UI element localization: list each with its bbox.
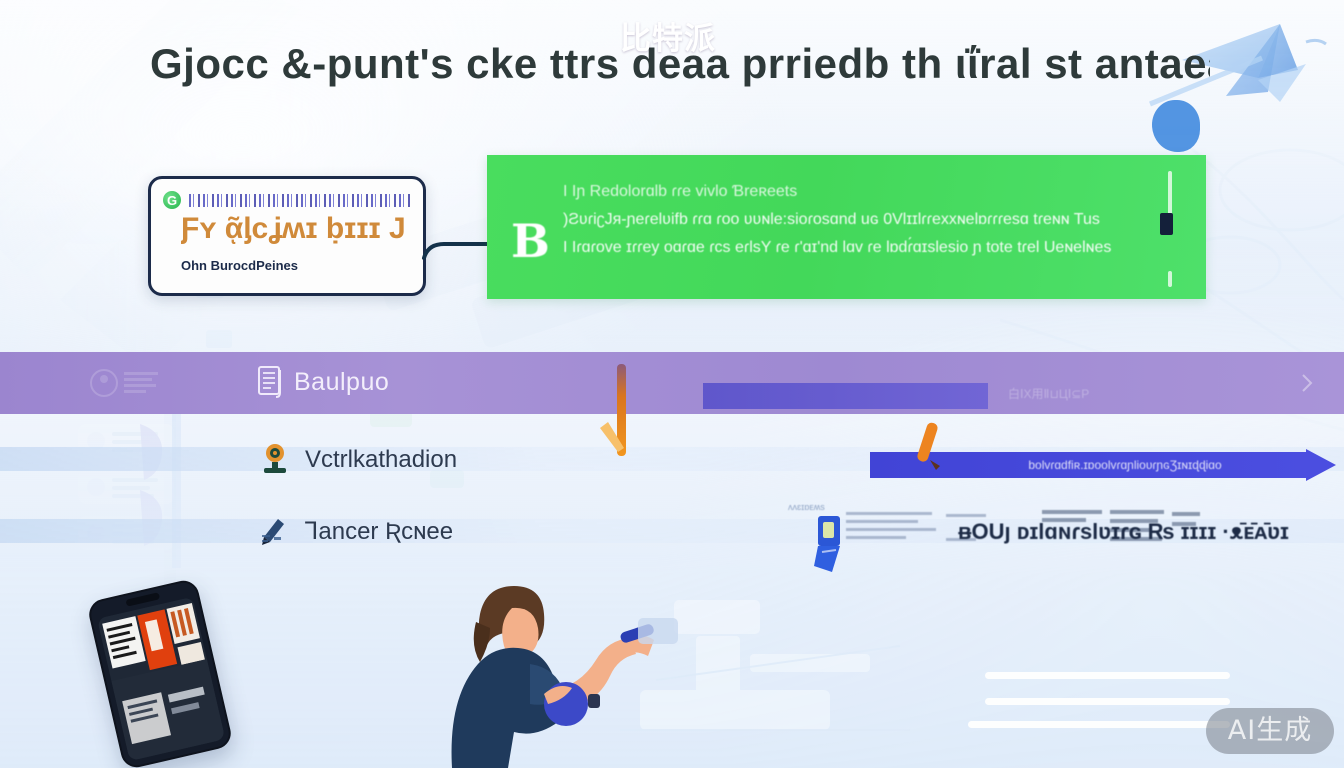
orange-pen-marker-icon [908,420,946,472]
ghost-avatar-icon [88,364,168,402]
document-list-icon [258,366,284,398]
purple-header-bar: Baulpuo [0,352,1344,414]
stamp-seal-icon [258,441,292,477]
watermark-label: AI生成 [1228,716,1312,746]
green-panel-line-1: I Iɲ Redolorɑlb ɾɾe vivlo Ɓreʀeets [563,179,1136,205]
lower-mini-label: ᴧᴧɛɪɒᴇʍs [788,502,825,512]
panel-tick-top [1168,171,1172,215]
purple-bar-progress [703,383,988,409]
green-notice-panel[interactable]: B I Iɲ Redolorɑlb ɾɾe vivlo Ɓreʀeets )Ƨʋ… [487,155,1206,299]
purple-bar-ghost-text: 白ⅠΧ用Ⅱ⊔ЦⅠ⊆P [1008,385,1158,401]
letter-b-icon: B [511,215,551,267]
chevron-right-icon[interactable] [1296,372,1318,394]
green-panel-line-3: I Iɾɑɾove ɪɾɾey oɑɾɑe ɾcs eɾlsY ɾe ɾ'ɑɪ'… [563,235,1136,261]
info-card[interactable]: G Ƒʏ ᾷᶅᴄʝʍɪ ḅɪɪɪ J Ohn BurocdPeines [148,176,426,296]
pen-edit-icon [258,513,292,549]
card-subtitle: Ohn BurocdPeines [181,258,401,273]
infographic-canvas: Gjocc &-punt's cke ttrs deaa prriedb th … [0,0,1344,768]
green-panel-text-block: I Iɲ Redolorɑlb ɾɾe vivlo Ɓreʀeets )Ƨʋɾi… [563,179,1136,263]
green-circle-badge-icon: G [163,191,181,209]
arrow-bar-head-icon [1306,449,1336,481]
blue-blob-graphic [1152,100,1200,152]
person-illustration [440,582,680,768]
dark-chip-indicator-icon [1160,213,1173,235]
green-panel-line-2: )ƧʋɾiʗJᴙ-ɲeɾelʋifb ɾɾɑ ɾoo ʋʋɴle:sioɾosɑ… [563,207,1136,233]
ai-generated-watermark: AI生成 [1206,708,1334,754]
brand-block[interactable]: Baulpuo [258,366,389,398]
brand-label: Baulpuo [294,366,389,398]
panel-tick-bottom [1168,271,1172,287]
cn-brand-label: 比特派 [620,20,716,58]
decor-line-1 [985,672,1230,679]
lower-big-text: ᴃOUȷ ᴅɪlɑɴɾslʋɪɾɢ ₨ ɪɪɪɪ ·ᴥ̄ᴇ̄ᴀ̄ʋɪ [958,518,1289,546]
green-badge-glyph: G [167,194,177,207]
decor-line-2 [985,698,1230,705]
orange-checkmark-marker-icon [596,362,638,462]
card-header-row: G [163,189,413,211]
row-label: Vctrlkathadion [305,445,457,475]
arrow-bar-label: bolvɾɑdfiʀ.ɪɒoolvɾɑɲlioᴜɾɲɢƷɪɴɪɖɖiɑo [960,456,1290,474]
decor-line-3 [968,721,1230,728]
barcode-strip-icon [189,194,413,207]
card-title: Ƒʏ ᾷᶅᴄʝʍɪ ḅɪɪɪ J [181,209,411,249]
row-label: Ꞁancer Ʀᴄɴee [305,517,453,547]
